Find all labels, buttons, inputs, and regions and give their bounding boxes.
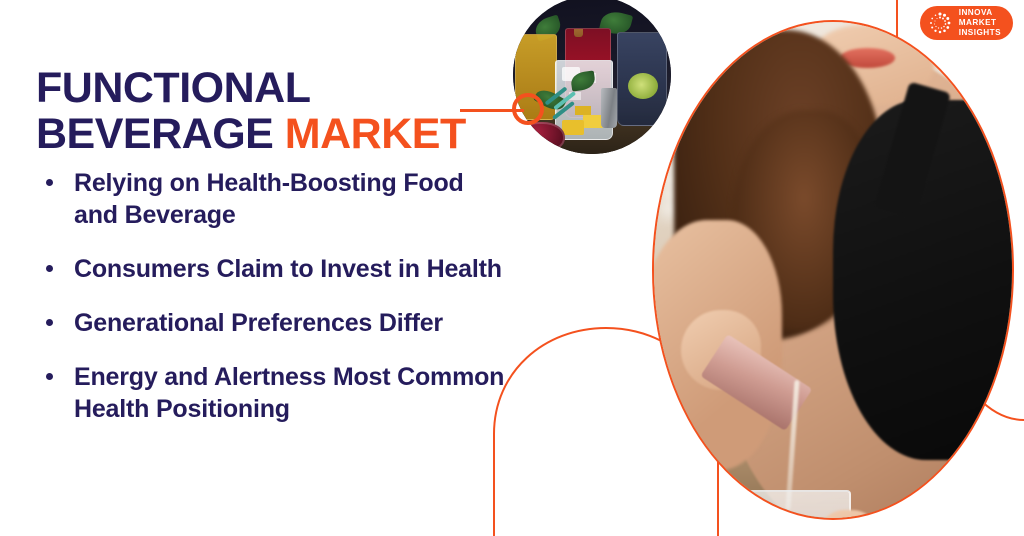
- list-item: Consumers Claim to Invest in Health: [36, 253, 506, 285]
- innova-sunburst-icon: [928, 11, 952, 35]
- sugared-berries: [521, 122, 565, 152]
- list-item-label: Generational Preferences Differ: [74, 309, 443, 337]
- list-item-label: Energy and Alertness Most Common Health …: [74, 363, 504, 423]
- glass-foam: [749, 519, 845, 520]
- title-line-2-navy: BEVERAGE: [36, 110, 285, 158]
- cocktail-shaker: [601, 88, 617, 128]
- functional-beverage-drinks-photo: [513, 0, 671, 154]
- logo-line-2: MARKET: [959, 18, 1001, 28]
- logo-wordmark: INNOVA MARKET INSIGHTS: [959, 8, 1001, 38]
- list-item-label: Relying on Health-Boosting Food and Beve…: [74, 169, 464, 229]
- bullet-dot-icon: [46, 179, 53, 186]
- beverage-scene: [513, 0, 671, 154]
- innova-market-insights-logo[interactable]: INNOVA MARKET INSIGHTS: [920, 6, 1013, 40]
- hero-scene: [652, 20, 1014, 520]
- list-item: Relying on Health-Boosting Food and Beve…: [36, 167, 506, 231]
- title-line-1: FUNCTIONAL: [36, 65, 466, 111]
- pineapple-chunks: [562, 120, 584, 135]
- orange-circle-marker: [512, 93, 544, 125]
- logo-line-3: INSIGHTS: [959, 28, 1001, 38]
- list-item: Energy and Alertness Most Common Health …: [36, 361, 506, 425]
- bullet-dot-icon: [46, 319, 53, 326]
- page-title: FUNCTIONAL BEVERAGE MARKET: [36, 65, 466, 158]
- bullet-dot-icon: [46, 265, 53, 272]
- key-points-list: Relying on Health-Boosting Food and Beve…: [36, 167, 506, 425]
- logo-line-1: INNOVA: [959, 8, 1001, 18]
- list-item: Generational Preferences Differ: [36, 307, 506, 339]
- woman-pouring-supplement-photo: [652, 20, 1014, 520]
- bullet-dot-icon: [46, 373, 53, 380]
- infographic-slide: FUNCTIONAL BEVERAGE MARKET Relying on He…: [0, 0, 1024, 536]
- title-line-2-orange: MARKET: [285, 110, 466, 158]
- list-item-label: Consumers Claim to Invest in Health: [74, 255, 502, 283]
